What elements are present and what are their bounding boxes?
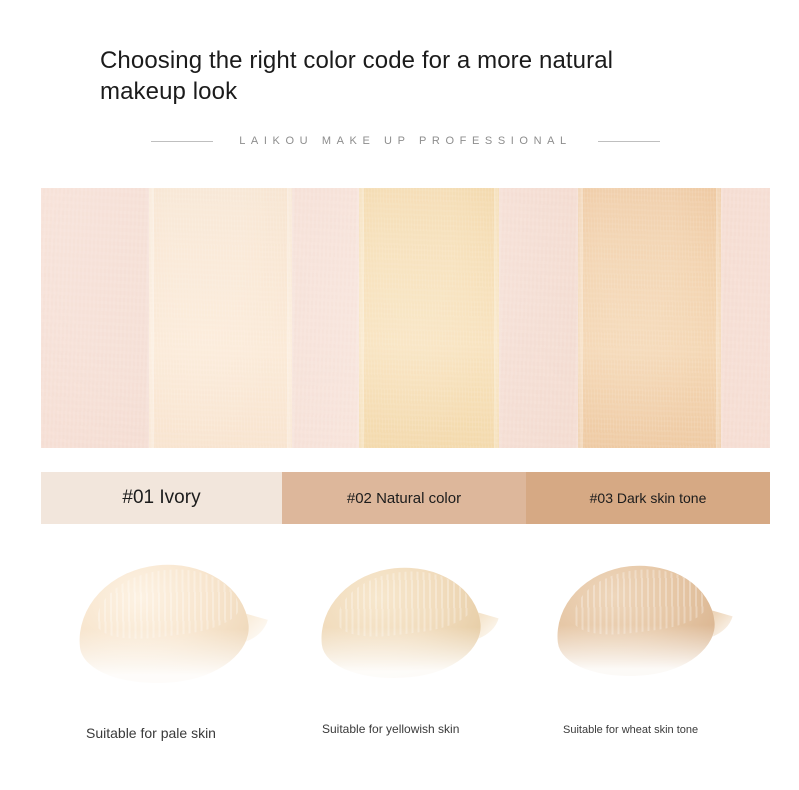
stripe-edge-left xyxy=(145,188,154,448)
stripe-edge-right xyxy=(287,188,296,448)
page-title-line-2: makeup look xyxy=(100,76,700,107)
stripe-texture-icon xyxy=(578,188,721,448)
page-title-line-1: Choosing the right color code for a more… xyxy=(100,45,700,76)
swatch-stripe-02-natural xyxy=(359,188,499,448)
foundation-smear-02 xyxy=(320,568,480,678)
smear-fade xyxy=(78,629,248,683)
swatch-photo-panel xyxy=(41,188,770,448)
divider-rule-left xyxy=(151,141,213,142)
page-title: Choosing the right color code for a more… xyxy=(100,45,700,107)
product-shade-guide: Choosing the right color code for a more… xyxy=(0,0,799,790)
shade-label-02: #02 Natural color xyxy=(282,472,526,524)
shade-label-03: #03 Dark skin tone xyxy=(526,472,770,524)
stripe-texture-icon xyxy=(149,188,292,448)
shade-label-band: #01 Ivory #02 Natural color #03 Dark ski… xyxy=(41,472,770,524)
brand-tagline: LAIKOU MAKE UP PROFESSIONAL xyxy=(41,131,770,151)
smear-caption-01: Suitable for pale skin xyxy=(86,725,216,741)
stripe-edge-right xyxy=(494,188,503,448)
smear-caption-02: Suitable for yellowish skin xyxy=(322,722,459,736)
brand-name: LAIKOU MAKE UP PROFESSIONAL xyxy=(239,135,572,147)
shade-label-01: #01 Ivory xyxy=(41,472,282,524)
swatch-stripe-03-dark xyxy=(578,188,721,448)
stripe-edge-left xyxy=(355,188,364,448)
swatch-stripe-01-ivory xyxy=(149,188,292,448)
foundation-smear-03 xyxy=(556,566,714,676)
stripe-edge-right xyxy=(716,188,725,448)
smear-caption-03: Suitable for wheat skin tone xyxy=(563,724,698,736)
smear-fade xyxy=(320,627,480,678)
stripe-texture-icon xyxy=(359,188,499,448)
foundation-smear-01 xyxy=(78,565,248,683)
divider-rule-right xyxy=(598,141,660,142)
stripe-edge-left xyxy=(574,188,583,448)
smear-fade xyxy=(556,625,714,676)
